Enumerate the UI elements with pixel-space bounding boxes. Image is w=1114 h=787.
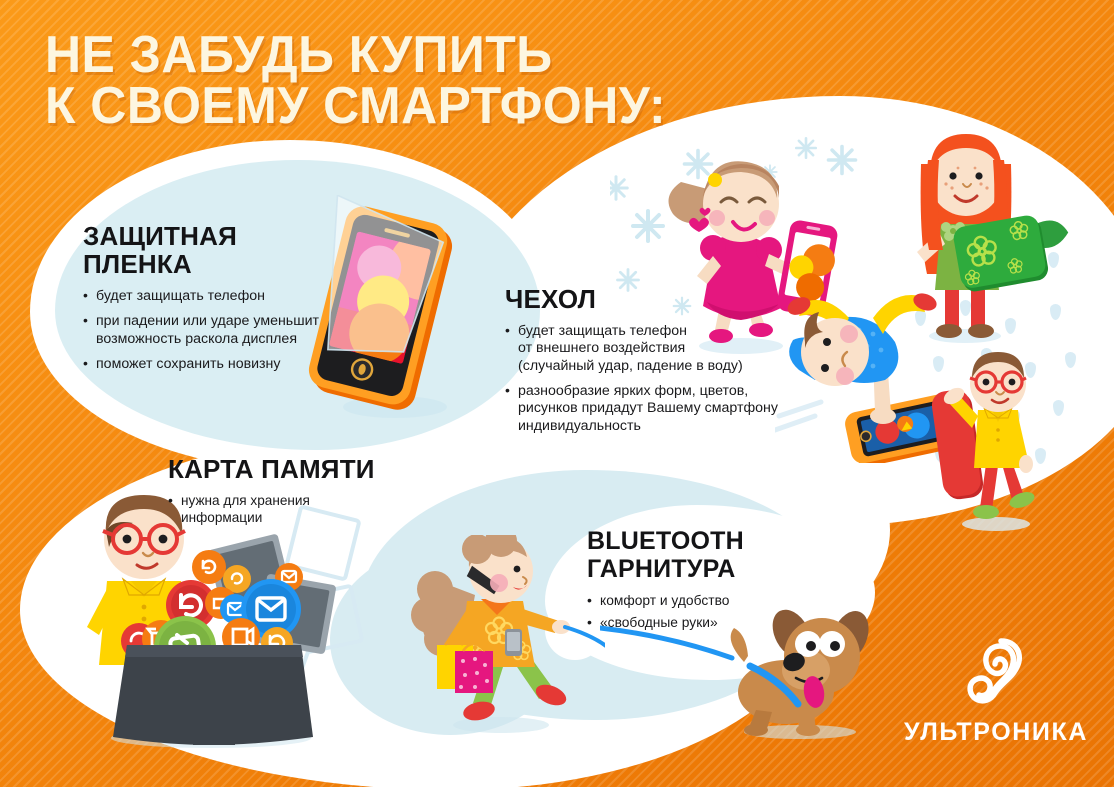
bullet-item: поможет сохранить новизну	[83, 356, 333, 373]
bullet-list-screen-protector: будет защищать телефон при падении или у…	[83, 288, 333, 373]
woman-with-bluetooth-headset-illustration	[405, 535, 605, 735]
brand-logo: УЛЬТРОНИКА	[904, 637, 1088, 747]
bullet-item: разнообразие ярких форм, цветов, рисунко…	[505, 383, 835, 435]
page-title: НЕ ЗАБУДЬ КУПИТЬ К СВОЕМУ СМАРТФОНУ:	[45, 30, 666, 132]
bullet-item: комфорт и удобство	[587, 593, 847, 610]
section-bluetooth-headset: BLUETOOTH ГАРНИТУРА комфорт и удобство «…	[587, 528, 847, 637]
bullet-item: «свободные руки»	[587, 615, 847, 632]
bullet-item: нужна для хранения информации	[168, 493, 398, 526]
infographic-poster: ЗАЩИТНАЯ ПЛЕНКА будет защищать телефон п…	[0, 0, 1114, 787]
section-title-case: ЧЕХОЛ	[505, 285, 835, 313]
brand-name: УЛЬТРОНИКА	[904, 718, 1088, 747]
boy-with-glasses-and-red-case-illustration	[930, 352, 1080, 532]
section-title-bluetooth-headset: BLUETOOTH ГАРНИТУРА	[587, 528, 847, 583]
bullet-item: будет защищать телефон	[83, 288, 333, 305]
bullet-item: при падении или ударе уменьшит возможнос…	[83, 313, 333, 348]
section-title-screen-protector: ЗАЩИТНАЯ ПЛЕНКА	[83, 222, 333, 278]
bullet-item: будет защищать телефон от внешнего возде…	[505, 323, 835, 375]
section-screen-protector: ЗАЩИТНАЯ ПЛЕНКА будет защищать телефон п…	[83, 222, 333, 381]
ultronica-swirl-mark-icon	[959, 637, 1033, 707]
bullet-list-memory-card: нужна для хранения информации	[168, 493, 398, 526]
section-title-memory-card: КАРТА ПАМЯТИ	[168, 455, 398, 483]
bullet-list-case: будет защищать телефон от внешнего возде…	[505, 323, 835, 435]
section-memory-card: КАРТА ПАМЯТИ нужна для хранения информац…	[168, 455, 398, 534]
bullet-list-bluetooth-headset: комфорт и удобство «свободные руки»	[587, 593, 847, 632]
section-case: ЧЕХОЛ будет защищать телефон от внешнего…	[505, 285, 835, 443]
